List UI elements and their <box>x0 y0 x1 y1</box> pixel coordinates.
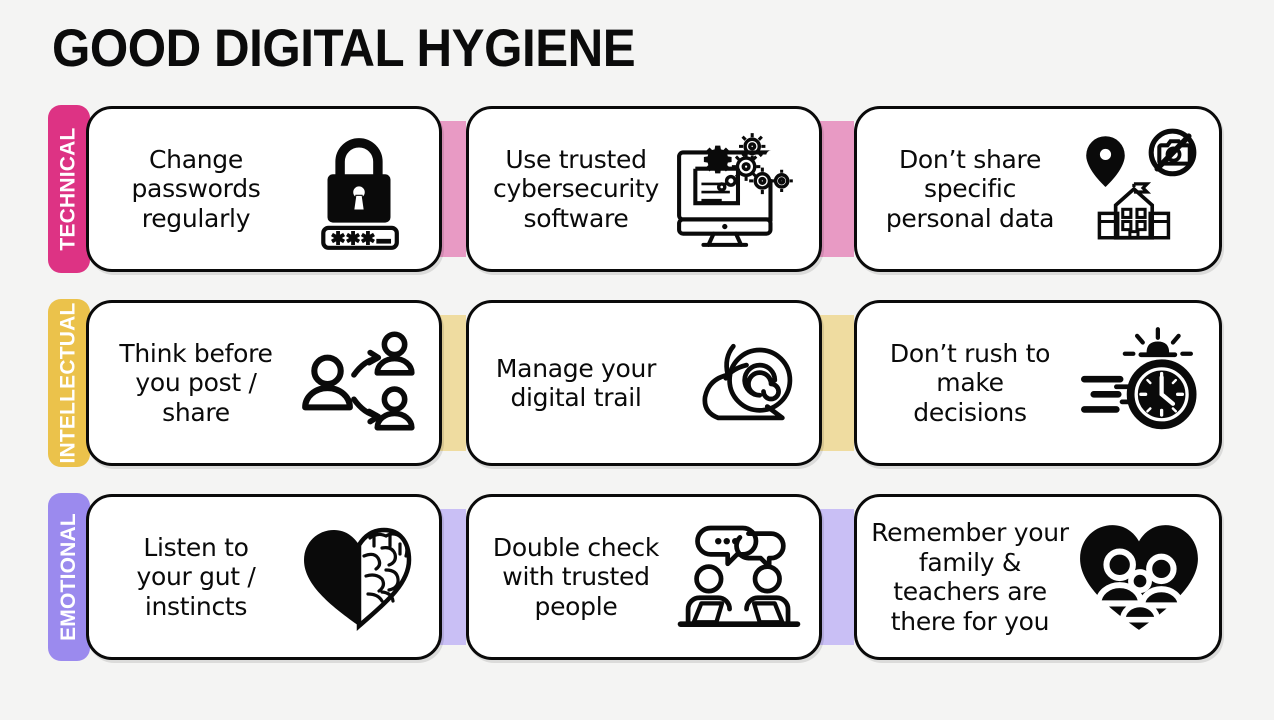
category-label: EMOTIONAL <box>57 513 81 641</box>
tip-card[interactable]: Think before you post / share <box>86 300 442 466</box>
location-pin-no-camera-school-icon <box>1073 123 1205 255</box>
tip-card-text: Double check with trusted people <box>479 533 673 622</box>
tip-card[interactable]: Use trusted cybersecurity software <box>466 106 822 272</box>
snail-icon <box>673 317 805 449</box>
category-row-intellectual: INTELLECTUAL Think before you post / sha… <box>0 297 1274 469</box>
category-tab-emotional[interactable]: EMOTIONAL <box>48 493 90 661</box>
category-row-emotional: EMOTIONAL Listen to your gut / instincts <box>0 491 1274 663</box>
category-label: INTELLECTUAL <box>57 302 81 463</box>
tip-card[interactable]: Remember your family & teachers are ther… <box>854 494 1222 660</box>
tip-card[interactable]: Don’t share specific personal data <box>854 106 1222 272</box>
category-tab-technical[interactable]: TECHNICAL <box>48 105 90 273</box>
tip-card[interactable]: Change passwords regularly ✱✱✱ <box>86 106 442 272</box>
infographic-page: GOOD DIGITAL HYGIENE TECHNICAL Change pa… <box>0 0 1274 720</box>
category-tab-intellectual[interactable]: INTELLECTUAL <box>48 299 90 467</box>
tip-card[interactable]: Listen to your gut / instincts <box>86 494 442 660</box>
tip-card-text: Don’t rush to make decisions <box>867 339 1073 428</box>
heart-brain-icon <box>293 511 425 643</box>
category-label: TECHNICAL <box>57 127 81 250</box>
heart-family-icon <box>1073 511 1205 643</box>
share-people-icon <box>293 317 425 449</box>
tip-card-text: Listen to your gut / instincts <box>99 533 293 622</box>
speeding-alarm-clock-icon <box>1073 317 1205 449</box>
padlock-password-icon: ✱✱✱ <box>293 123 425 255</box>
monitor-gears-icon <box>673 123 805 255</box>
row-connector <box>818 509 854 645</box>
two-people-laptops-chat-icon <box>673 511 805 643</box>
tip-card-text: Manage your digital trail <box>479 354 673 413</box>
tip-card-text: Change passwords regularly <box>99 145 293 234</box>
row-connector <box>818 315 854 451</box>
tip-card[interactable]: Manage your digital trail <box>466 300 822 466</box>
tip-card[interactable]: Don’t rush to make decisions <box>854 300 1222 466</box>
tip-card[interactable]: Double check with trusted people <box>466 494 822 660</box>
tip-card-text: Remember your family & teachers are ther… <box>867 518 1073 636</box>
svg-text:✱✱✱: ✱✱✱ <box>331 229 376 250</box>
tip-card-text: Use trusted cybersecurity software <box>479 145 673 234</box>
page-title: GOOD DIGITAL HYGIENE <box>52 22 635 75</box>
tip-card-text: Think before you post / share <box>99 339 293 428</box>
row-connector <box>818 121 854 257</box>
tip-card-text: Don’t share specific personal data <box>867 145 1073 234</box>
category-row-technical: TECHNICAL Change passwords regularly <box>0 103 1274 275</box>
